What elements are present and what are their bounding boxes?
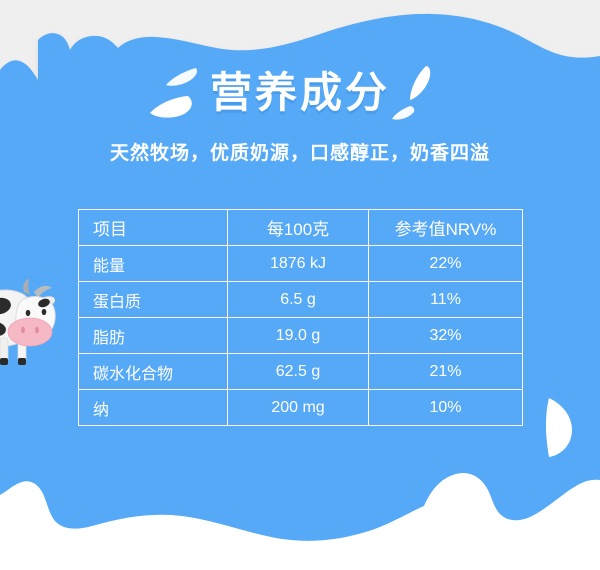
table-row: 纳 200 mg 10% [79,390,523,426]
nutrient-nrv: 22% [369,246,523,282]
nutrient-value: 19.0 g [228,318,369,354]
title-row: 营养成分 [210,62,390,124]
nutrient-name: 脂肪 [79,318,228,354]
table-row: 蛋白质 6.5 g 11% [79,282,523,318]
cow-mascot-icon [0,272,60,380]
column-header-per100g: 每100克 [228,210,369,246]
nutrient-nrv: 32% [369,318,523,354]
nutrient-name: 纳 [79,390,228,426]
nutrient-name: 碳水化合物 [79,354,228,390]
table-row: 脂肪 19.0 g 32% [79,318,523,354]
page-title: 营养成分 [210,62,390,124]
milk-drop-decoration-left-icon [144,62,204,124]
nutrition-table-wrapper: 项目 每100克 参考值NRV% 能量 1876 kJ 22% 蛋白质 6.5 … [78,209,522,426]
milk-drop-decoration-right-icon [392,62,452,124]
table-header-row: 项目 每100克 参考值NRV% [79,210,523,246]
nutrient-nrv: 10% [369,390,523,426]
nutrient-name: 能量 [79,246,228,282]
header: 营养成分 天然牧场，优质奶源，口感醇正，奶香四溢 [0,62,600,165]
nutrition-table: 项目 每100克 参考值NRV% 能量 1876 kJ 22% 蛋白质 6.5 … [78,209,523,426]
nutrient-nrv: 11% [369,282,523,318]
column-header-nrv: 参考值NRV% [369,210,523,246]
table-row: 碳水化合物 62.5 g 21% [79,354,523,390]
nutrient-name: 蛋白质 [79,282,228,318]
nutrient-nrv: 21% [369,354,523,390]
nutrition-table-body: 项目 每100克 参考值NRV% 能量 1876 kJ 22% 蛋白质 6.5 … [79,210,523,426]
page-subtitle: 天然牧场，优质奶源，口感醇正，奶香四溢 [0,138,600,165]
table-row: 能量 1876 kJ 22% [79,246,523,282]
nutrient-value: 6.5 g [228,282,369,318]
nutrient-value: 1876 kJ [228,246,369,282]
nutrient-value: 62.5 g [228,354,369,390]
nutrition-poster: 营养成分 天然牧场，优质奶源，口感醇正，奶香四溢 项目 每100克 参考值NRV… [0,0,600,570]
column-header-item: 项目 [79,210,228,246]
nutrient-value: 200 mg [228,390,369,426]
